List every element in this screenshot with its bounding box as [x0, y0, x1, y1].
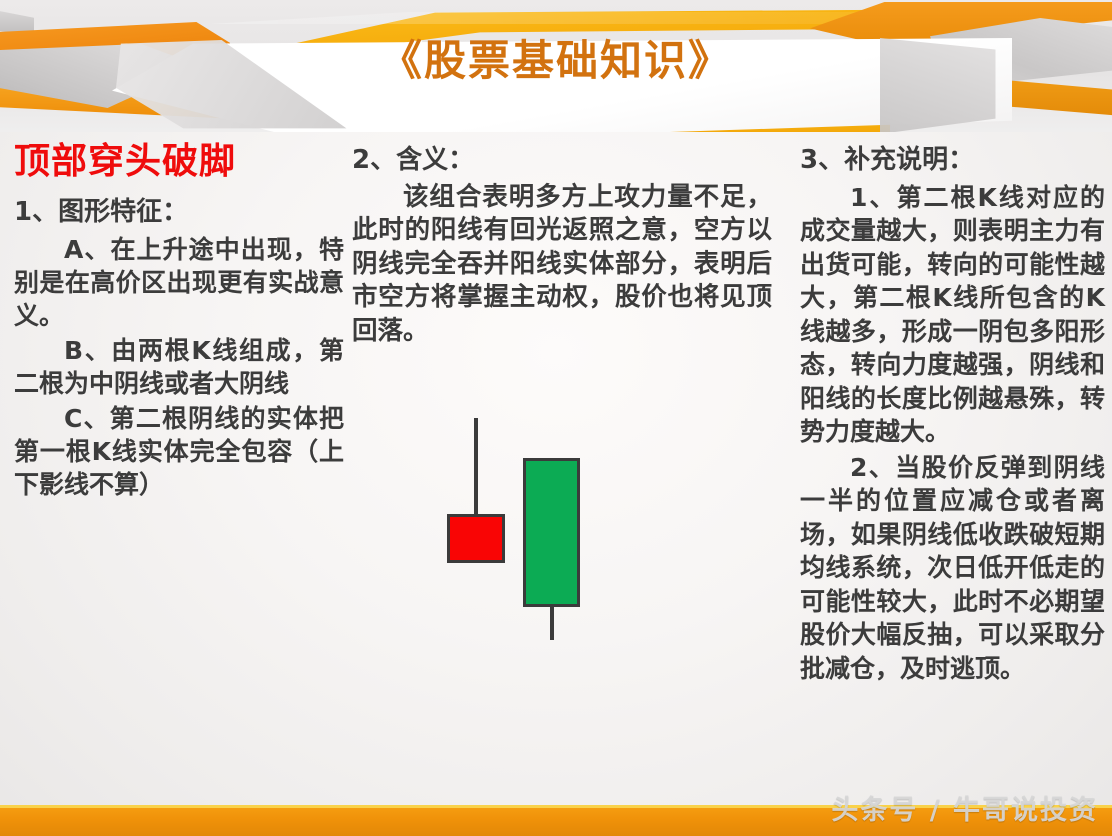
column-left: 顶部穿头破脚 1、图形特征： A、在上升途中出现，特别是在高价区出现更有实战意义… [14, 132, 344, 503]
left-paragraph-c: C、第二根阴线的实体把第一根K线实体完全包容（上下影线不算） [14, 402, 344, 501]
candle-first-upper-wick [474, 418, 478, 514]
candle-second-lower-wick [550, 607, 554, 640]
middle-paragraph-1: 该组合表明多方上攻力量不足，此时的阳线有回光返照之意，空方以阴线完全吞并阳线实体… [352, 181, 772, 349]
slide-root: 《股票基础知识》 顶部穿头破脚 1、图形特征： A、在上升途中出现，特别是在高价… [0, 0, 1112, 836]
left-paragraph-a: A、在上升途中出现，特别是在高价区出现更有实战意义。 [14, 233, 344, 332]
column-right: 3、补充说明： 1、第二根K线对应的成交量越大，则表明主力有出货可能，转向的可能… [800, 132, 1105, 687]
right-section-title: 3、补充说明： [800, 144, 1105, 177]
candle-second-body [523, 458, 580, 607]
topic-heading: 顶部穿头破脚 [14, 142, 344, 182]
right-paragraph-2: 2、当股价反弹到阴线一半的位置应减仓或者离场，如果阴线低收跌破短期均线系统，次日… [800, 451, 1105, 686]
left-paragraph-b: B、由两根K线组成，第二根为中阴线或者大阴线 [14, 334, 344, 400]
candle-first-body [447, 514, 505, 563]
page-title: 《股票基础知识》 [0, 36, 1112, 86]
candlestick-chart [420, 400, 660, 670]
left-section-title: 1、图形特征： [14, 196, 344, 229]
right-paragraph-1: 1、第二根K线对应的成交量越大，则表明主力有出货可能，转向的可能性越大，第二根K… [800, 181, 1105, 449]
watermark-label: 头条号 / 牛哥说投资 [831, 788, 1098, 827]
column-middle: 2、含义： 该组合表明多方上攻力量不足，此时的阳线有回光返照之意，空方以阴线完全… [352, 132, 772, 351]
middle-section-title: 2、含义： [352, 144, 772, 177]
